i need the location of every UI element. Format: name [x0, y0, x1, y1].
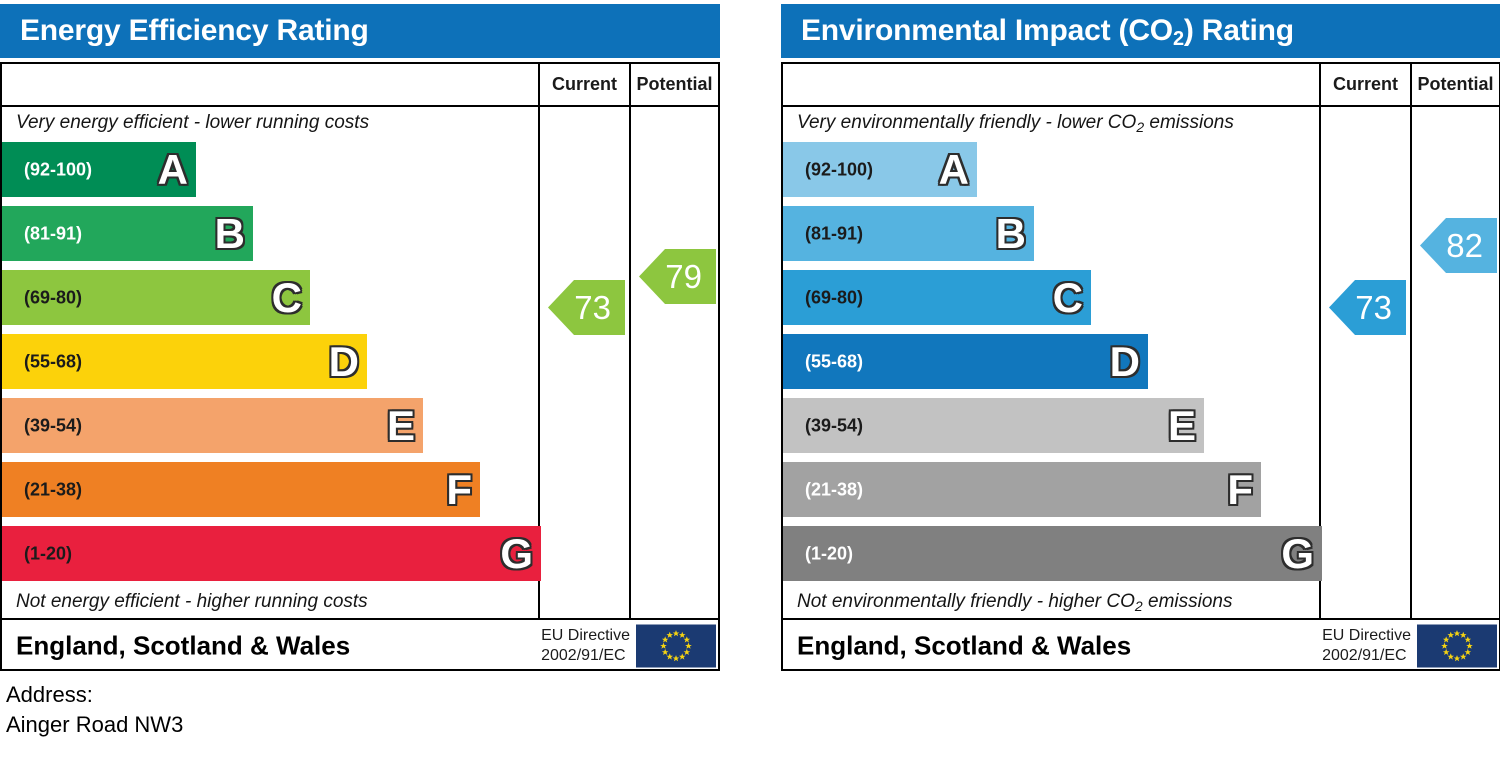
band-bar-e: (39-54)E [783, 398, 1204, 453]
environmental-impact-panel: Environmental Impact (CO2) Rating Curren… [781, 0, 1500, 672]
band-bar-f: (21-38)F [2, 462, 480, 517]
caption-top-co2: Very environmentally friendly - lower CO… [797, 112, 1234, 134]
caption-bottom-co2: Not environmentally friendly - higher CO… [797, 591, 1232, 613]
band-bar-e: (39-54)E [2, 398, 423, 453]
eu-directive-co2: EU Directive 2002/91/EC [1322, 626, 1411, 666]
region-label-energy: England, Scotland & Wales [16, 630, 350, 661]
co2-subscript-title: 2 [1173, 28, 1184, 50]
caption-top-energy: Very energy efficient - lower running co… [16, 112, 369, 134]
column-header-current: Current [540, 74, 629, 95]
band-letter-e: E [1168, 405, 1196, 447]
caption-top-co2-prefix: Very environmentally friendly - lower CO [797, 112, 1136, 133]
band-bar-b: (81-91)B [783, 206, 1034, 261]
band-range-b: (81-91) [805, 223, 863, 244]
band-bar-b: (81-91)B [2, 206, 253, 261]
eu-flag-icon [636, 624, 716, 667]
band-bar-a: (92-100)A [783, 142, 977, 197]
environmental-impact-title: Environmental Impact (CO2) Rating [781, 4, 1500, 58]
rating-marker-potential: 82 [1420, 218, 1497, 273]
region-label-co2: England, Scotland & Wales [797, 630, 1131, 661]
co2-footer: England, Scotland & Wales EU Directive 2… [783, 620, 1499, 671]
band-letter-d: D [329, 341, 359, 383]
band-range-a: (92-100) [24, 159, 92, 180]
eu-directive-line1: EU Directive [1322, 626, 1411, 646]
eu-directive-line1: EU Directive [541, 626, 630, 646]
address-line-1: Ainger Road NW3 [6, 710, 183, 740]
energy-efficiency-title-text: Energy Efficiency Rating [20, 14, 369, 47]
caption-top-co2-suffix: emissions [1144, 112, 1234, 133]
environmental-impact-grid: Current Potential Very environmentally f… [781, 62, 1500, 671]
eu-directive-line2: 2002/91/EC [1322, 646, 1411, 666]
band-range-b: (81-91) [24, 223, 82, 244]
header-divider [783, 105, 1499, 107]
band-letter-b: B [215, 213, 245, 255]
rating-value-potential: 82 [1446, 227, 1483, 265]
band-range-g: (1-20) [24, 543, 72, 564]
column-header-potential: Potential [631, 74, 718, 95]
band-letter-a: A [158, 149, 188, 191]
eu-directive-line2: 2002/91/EC [541, 646, 630, 666]
band-letter-g: G [500, 533, 533, 575]
band-letter-g: G [1281, 533, 1314, 575]
potential-column-divider [629, 64, 631, 620]
epc-certificate-page: Energy Efficiency Rating Current Potenti… [0, 0, 1500, 760]
rating-marker-current: 73 [1329, 280, 1406, 335]
band-letter-e: E [387, 405, 415, 447]
band-letter-b: B [996, 213, 1026, 255]
band-range-g: (1-20) [805, 543, 853, 564]
band-letter-c: C [272, 277, 302, 319]
band-letter-f: F [1227, 469, 1253, 511]
eu-flag-stars [1417, 624, 1497, 667]
rating-value-current: 73 [574, 289, 611, 327]
band-range-d: (55-68) [805, 351, 863, 372]
eu-flag-stars [636, 624, 716, 667]
band-bar-a: (92-100)A [2, 142, 196, 197]
rating-value-potential: 79 [665, 258, 702, 296]
potential-column-divider [1410, 64, 1412, 620]
co2-subscript-caption-top: 2 [1136, 119, 1144, 135]
band-bar-c: (69-80)C [2, 270, 310, 325]
environmental-impact-title-prefix: Environmental Impact (CO [801, 14, 1173, 47]
band-letter-d: D [1110, 341, 1140, 383]
band-letter-f: F [446, 469, 472, 511]
band-range-f: (21-38) [24, 479, 82, 500]
band-range-c: (69-80) [805, 287, 863, 308]
energy-efficiency-grid: Current Potential Very energy efficient … [0, 62, 720, 671]
energy-efficiency-title: Energy Efficiency Rating [0, 4, 720, 58]
header-divider [2, 105, 718, 107]
rating-marker-current: 73 [548, 280, 625, 335]
caption-bottom-co2-suffix: emissions [1143, 591, 1233, 612]
band-range-e: (39-54) [805, 415, 863, 436]
column-header-current: Current [1321, 74, 1410, 95]
band-bar-d: (55-68)D [783, 334, 1148, 389]
caption-bottom-energy: Not energy efficient - higher running co… [16, 591, 368, 613]
band-bar-d: (55-68)D [2, 334, 367, 389]
address-block: Address: Ainger Road NW3 [6, 680, 183, 739]
address-label: Address: [6, 680, 183, 710]
eu-flag-icon [1417, 624, 1497, 667]
column-header-potential: Potential [1412, 74, 1499, 95]
environmental-impact-title-suffix: ) Rating [1184, 14, 1294, 47]
rating-marker-potential: 79 [639, 249, 716, 304]
band-range-c: (69-80) [24, 287, 82, 308]
band-bar-g: (1-20)G [2, 526, 541, 581]
band-range-a: (92-100) [805, 159, 873, 180]
energy-footer: England, Scotland & Wales EU Directive 2… [2, 620, 718, 671]
band-letter-a: A [939, 149, 969, 191]
band-range-d: (55-68) [24, 351, 82, 372]
energy-efficiency-panel: Energy Efficiency Rating Current Potenti… [0, 0, 720, 672]
co2-subscript-caption-bottom: 2 [1135, 598, 1143, 614]
eu-directive-energy: EU Directive 2002/91/EC [541, 626, 630, 666]
band-range-e: (39-54) [24, 415, 82, 436]
rating-value-current: 73 [1355, 289, 1392, 327]
band-bar-c: (69-80)C [783, 270, 1091, 325]
band-range-f: (21-38) [805, 479, 863, 500]
caption-bottom-co2-prefix: Not environmentally friendly - higher CO [797, 591, 1135, 612]
band-letter-c: C [1053, 277, 1083, 319]
band-bar-f: (21-38)F [783, 462, 1261, 517]
band-bar-g: (1-20)G [783, 526, 1322, 581]
